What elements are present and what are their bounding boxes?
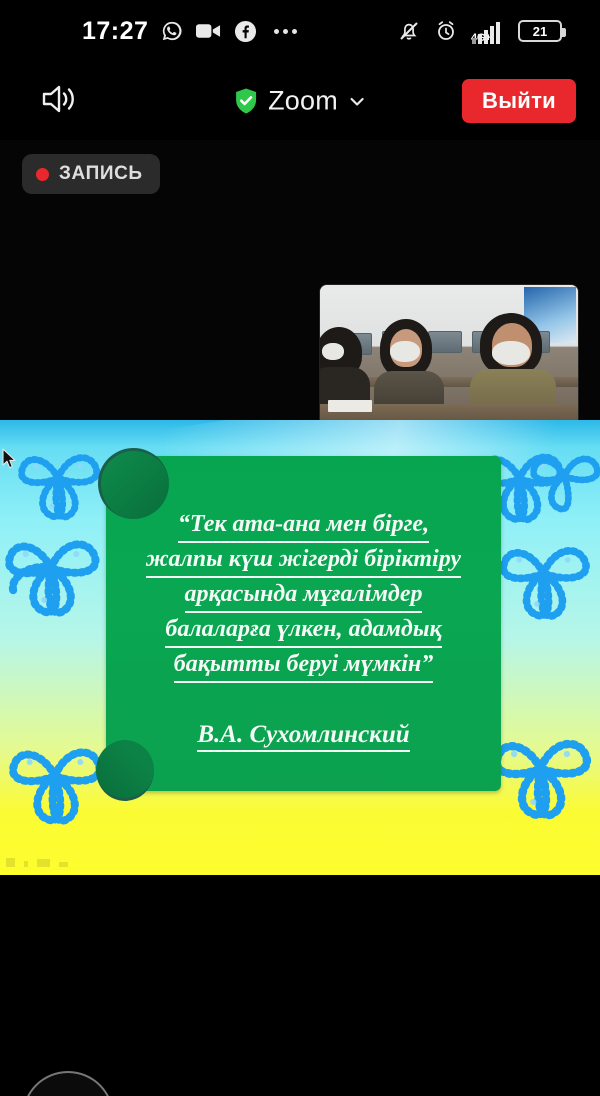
hibiscus-flower-icon bbox=[0, 508, 116, 623]
quote-line: бақытты беруі мүмкін” bbox=[174, 648, 433, 683]
quote-author-label: В.А. Сухомлинский bbox=[197, 721, 409, 752]
quote-line: жалпы күш жігерді біріктіру bbox=[146, 543, 461, 578]
zoom-top-bar: Zoom Выйти bbox=[0, 62, 600, 140]
leave-meeting-button[interactable]: Выйти bbox=[462, 79, 576, 123]
quote-panel: “Тек ата-ана мен бірге, жалпы күш жігерд… bbox=[106, 456, 501, 791]
thumbnail-monitor bbox=[428, 331, 462, 353]
status-bar-right: 4G+ 21 bbox=[397, 0, 562, 62]
overflow-dots-icon bbox=[274, 29, 297, 34]
speaker-toggle-button[interactable] bbox=[32, 79, 88, 123]
recording-badge: ЗАПИСЬ bbox=[22, 154, 160, 194]
hibiscus-flower-icon bbox=[517, 432, 600, 517]
record-dot-icon bbox=[36, 168, 49, 181]
quote-text: “Тек ата-ана мен бірге, жалпы күш жігерд… bbox=[106, 508, 501, 683]
thumbnail-person-mask bbox=[492, 341, 530, 365]
meeting-info-dropdown[interactable]: Zoom bbox=[234, 86, 366, 117]
facebook-icon bbox=[234, 20, 257, 43]
status-bar-left: 17:27 bbox=[82, 19, 297, 44]
shield-check-icon bbox=[234, 88, 258, 115]
alarm-clock-icon bbox=[434, 19, 458, 43]
quote-line: арқасында мұғалімдер bbox=[185, 578, 423, 613]
quote-line: “Тек ата-ана мен бірге, bbox=[178, 508, 429, 543]
battery-indicator: 21 bbox=[518, 20, 562, 42]
thumbnail-person-mask bbox=[322, 343, 344, 360]
thumbnail-person-mask bbox=[390, 341, 420, 362]
quote-author: В.А. Сухомлинский bbox=[106, 721, 501, 752]
bottom-area bbox=[0, 875, 600, 1096]
bell-muted-icon bbox=[397, 19, 421, 43]
whatsapp-icon bbox=[161, 20, 183, 42]
speaker-on-icon bbox=[40, 82, 80, 121]
phone-screen: 17:27 bbox=[0, 0, 600, 1096]
status-bar: 17:27 bbox=[0, 0, 600, 62]
battery-percent-label: 21 bbox=[533, 25, 547, 38]
video-camera-icon bbox=[196, 22, 221, 40]
mouse-pointer-icon bbox=[2, 448, 17, 475]
chevron-down-icon bbox=[348, 92, 366, 110]
meeting-title-label: Zoom bbox=[268, 86, 338, 117]
video-stage[interactable]: ЗАПИСЬ bbox=[0, 140, 600, 420]
status-clock: 17:27 bbox=[82, 19, 148, 44]
quote-line: балаларға үлкен, адамдық bbox=[165, 613, 441, 648]
signal-bars-icon: 4G+ bbox=[471, 18, 505, 44]
presentation-slide[interactable]: “Тек ата-ана мен бірге, жалпы күш жігерд… bbox=[0, 420, 600, 875]
thumbnail-paper bbox=[328, 400, 372, 412]
self-view-thumbnail[interactable] bbox=[320, 285, 578, 420]
recording-label: ЗАПИСЬ bbox=[59, 163, 143, 185]
slide-footer-marks bbox=[6, 858, 68, 867]
floating-action-button[interactable] bbox=[22, 1071, 114, 1096]
